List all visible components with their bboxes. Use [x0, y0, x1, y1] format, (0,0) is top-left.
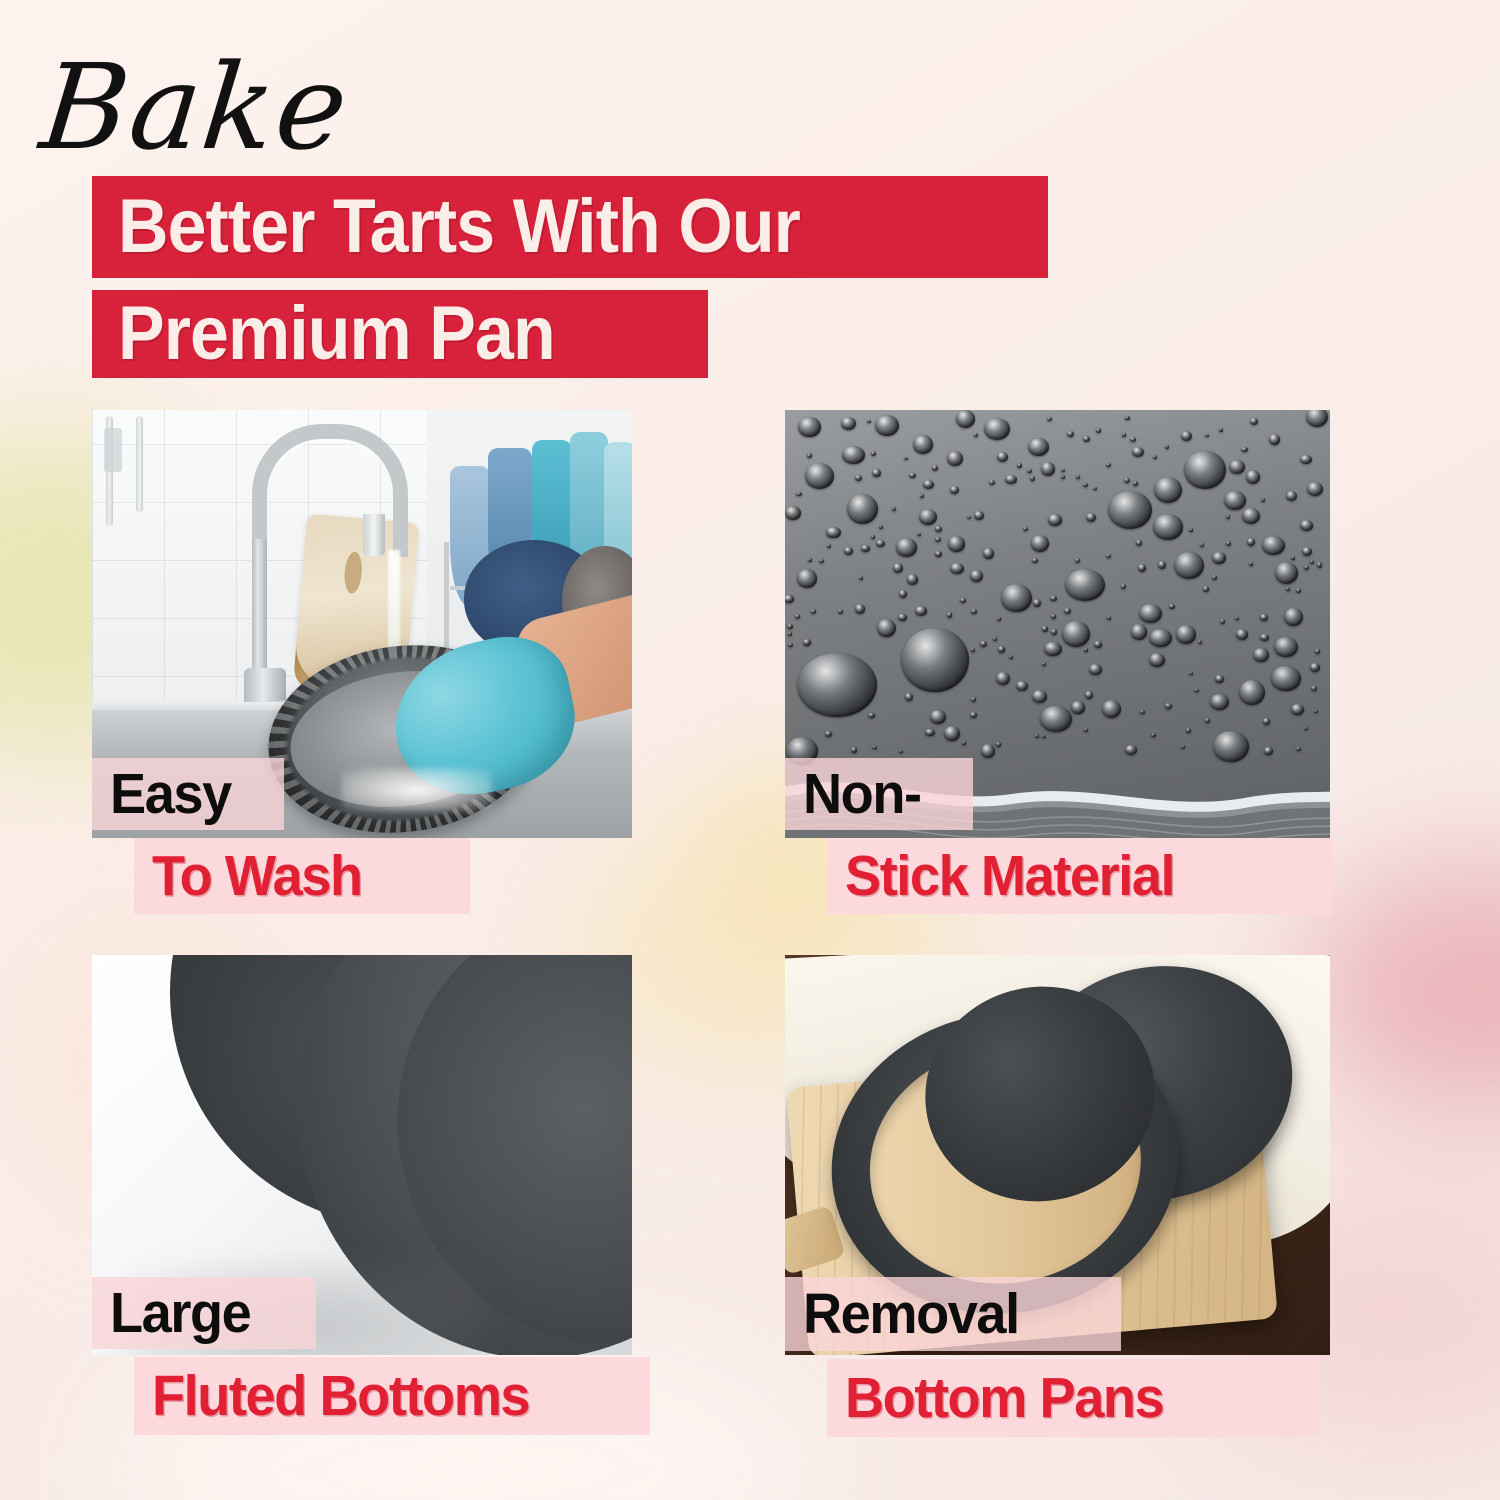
water-droplet	[892, 507, 896, 511]
water-droplet	[805, 463, 835, 489]
water-droplet	[797, 569, 817, 588]
water-droplet	[1241, 447, 1247, 452]
water-droplet	[1001, 584, 1032, 613]
water-droplet	[1249, 562, 1253, 565]
water-droplet	[1314, 710, 1318, 714]
water-droplet	[1229, 460, 1245, 474]
water-droplet	[1106, 554, 1111, 558]
feature-tag-top-large-text: Large	[110, 1285, 250, 1342]
water-droplet	[1186, 728, 1191, 733]
water-droplet	[898, 614, 907, 622]
water-droplet	[867, 420, 871, 424]
water-droplet	[998, 646, 1005, 652]
water-droplet	[1062, 621, 1090, 646]
water-droplet	[808, 558, 812, 562]
water-droplet	[984, 418, 1010, 440]
feature-tag-bottom-fluted-bottoms-text: Fluted Bottoms	[152, 1368, 529, 1425]
water-droplet	[1263, 718, 1271, 725]
water-droplet	[785, 506, 801, 520]
water-droplet	[1165, 445, 1170, 449]
water-droplet	[997, 617, 1001, 620]
water-droplet	[1300, 455, 1312, 464]
water-droplet	[1132, 447, 1144, 457]
water-droplet	[920, 494, 924, 497]
water-droplet	[1051, 614, 1056, 619]
water-droplet	[1274, 637, 1298, 657]
water-droplet	[1262, 536, 1285, 555]
water-droplet	[1235, 617, 1239, 621]
water-droplet	[1108, 491, 1152, 529]
script-headline-word: Bake	[36, 48, 355, 166]
water-droplet	[1284, 608, 1304, 627]
water-droplet	[1140, 710, 1144, 714]
water-droplet	[1236, 629, 1249, 640]
water-droplet	[1028, 438, 1049, 456]
water-droplet	[1226, 541, 1231, 546]
water-droplet	[1085, 691, 1093, 699]
water-droplet	[1286, 491, 1297, 502]
water-droplet	[1042, 735, 1046, 738]
water-droplet	[1047, 417, 1052, 422]
water-droplet	[1275, 562, 1298, 584]
feature-tag-bottom-to-wash: To Wash	[134, 838, 470, 914]
water-droplet	[1242, 508, 1261, 525]
water-droplet	[1271, 666, 1300, 690]
water-droplet	[797, 653, 877, 717]
water-droplet	[1269, 434, 1280, 445]
water-droplet	[872, 746, 876, 750]
water-droplet	[1050, 596, 1057, 602]
feature-card-large-fluted-bottoms: Large Fluted Bottoms	[92, 955, 632, 1355]
water-droplet	[1169, 604, 1174, 609]
water-droplet	[907, 574, 918, 585]
water-droplet	[825, 731, 832, 737]
water-droplet	[1093, 487, 1097, 491]
water-droplet	[1071, 701, 1084, 713]
water-droplet	[1194, 689, 1198, 693]
water-droplet	[1286, 587, 1290, 591]
water-droplet	[798, 417, 820, 438]
water-droplet	[1205, 718, 1210, 723]
water-droplet	[875, 415, 899, 436]
water-droplet	[1094, 641, 1101, 648]
water-droplet	[1083, 436, 1090, 442]
water-droplet	[1300, 520, 1312, 531]
water-droplet	[905, 693, 913, 701]
water-droplet	[795, 614, 800, 619]
headline-banner-line1: Better Tarts With Our	[92, 176, 1048, 278]
water-droplet	[851, 747, 857, 753]
water-droplet	[826, 527, 841, 539]
water-droplet	[962, 741, 966, 745]
feature-tag-bottom-bottom-pans-text: Bottom Pans	[845, 1370, 1163, 1427]
water-droplet	[1246, 470, 1260, 484]
water-droplet	[1027, 469, 1032, 474]
water-droplet	[1035, 734, 1039, 738]
water-droplet	[847, 494, 878, 524]
water-droplet	[1122, 433, 1126, 437]
water-droplet	[876, 540, 885, 547]
water-droplet	[983, 548, 994, 559]
water-droplet	[1023, 527, 1027, 531]
water-droplet	[1031, 535, 1050, 552]
water-droplet	[1048, 514, 1062, 525]
headline-line2-text: Premium Pan	[118, 296, 555, 372]
water-droplet	[935, 537, 941, 543]
feature-tag-top-easy-text: Easy	[110, 766, 231, 823]
water-droplet	[997, 452, 1008, 462]
product-feature-poster: Bake Better Tarts With Our Premium Pan	[0, 0, 1500, 1500]
water-droplet	[787, 624, 793, 629]
water-droplet	[989, 480, 996, 486]
water-droplet	[896, 538, 917, 556]
water-droplet	[841, 417, 857, 431]
feature-tag-bottom-bottom-pans: Bottom Pans	[827, 1359, 1317, 1437]
feature-tag-top-non-text: Non-	[803, 766, 921, 823]
water-droplet	[971, 609, 977, 614]
water-droplet	[919, 509, 937, 525]
water-droplet	[803, 639, 811, 646]
water-droplet	[915, 606, 927, 616]
water-droplet	[1153, 514, 1183, 539]
water-droplet	[947, 451, 963, 466]
water-droplet	[1064, 608, 1071, 614]
water-droplet	[1075, 558, 1081, 563]
feature-tag-bottom-stick-material: Stick Material	[827, 838, 1333, 914]
feature-tag-top-easy: Easy	[92, 758, 284, 830]
water-droplet	[868, 713, 875, 719]
water-droplet	[1189, 672, 1193, 676]
water-droplet	[1106, 463, 1111, 467]
water-droplet	[1203, 586, 1208, 591]
water-droplet	[1154, 477, 1182, 503]
water-droplet	[1151, 733, 1156, 737]
water-droplet	[788, 632, 792, 636]
feature-card-removal-bottom-pans: Removal Bottom Pans	[785, 955, 1330, 1355]
water-droplet	[930, 710, 946, 725]
water-droplet	[967, 516, 971, 520]
water-droplet	[1061, 475, 1065, 479]
water-droplet	[913, 435, 933, 454]
water-droplet	[1032, 690, 1047, 703]
water-droplet	[879, 525, 883, 529]
water-droplet	[855, 604, 865, 614]
water-droplet	[1165, 703, 1172, 709]
water-droplet	[1149, 629, 1172, 647]
water-droplet	[1219, 428, 1223, 432]
water-droplet	[935, 526, 942, 532]
water-droplet	[811, 609, 816, 614]
water-droplet	[970, 712, 977, 718]
water-droplet	[1264, 747, 1273, 755]
water-droplet	[1061, 469, 1065, 472]
water-droplet	[1250, 418, 1259, 425]
water-droplet	[909, 473, 915, 478]
water-droplet	[1260, 614, 1267, 621]
water-droplet	[974, 511, 984, 519]
water-droplet	[1311, 686, 1317, 691]
water-droplet	[1131, 624, 1147, 639]
water-droplet	[872, 469, 880, 477]
headline-line1-text: Better Tarts With Our	[118, 189, 800, 265]
water-droplet	[956, 410, 975, 428]
water-droplet	[960, 598, 966, 603]
feature-tag-top-removal: Removal	[785, 1277, 1121, 1351]
water-droplet	[1107, 616, 1111, 620]
water-droplet	[996, 672, 1010, 685]
water-droplet	[842, 446, 865, 465]
water-droplet	[1121, 584, 1126, 589]
water-droplet	[980, 641, 987, 647]
water-droplet	[1296, 588, 1301, 593]
water-droplet	[970, 570, 983, 582]
water-droplet	[1033, 599, 1041, 607]
water-droplet	[1239, 680, 1265, 705]
headline-banner-line2: Premium Pan	[92, 290, 708, 378]
water-droplet	[1009, 655, 1013, 659]
water-droplet	[1212, 552, 1227, 564]
water-droplet	[1086, 513, 1096, 522]
water-droplet	[1125, 416, 1129, 420]
water-droplet	[1176, 625, 1195, 643]
water-droplet	[1042, 626, 1049, 632]
water-droplet	[1200, 543, 1204, 547]
water-droplet	[971, 697, 976, 702]
water-droplet	[893, 563, 904, 573]
feature-tag-top-non: Non-	[785, 758, 973, 830]
water-droplet	[1133, 481, 1138, 486]
water-droplet	[947, 612, 953, 617]
water-droplet	[871, 535, 875, 538]
water-droplet	[1130, 437, 1136, 442]
water-droplet	[923, 480, 935, 490]
water-droplet	[1030, 476, 1035, 481]
water-droplet	[904, 457, 908, 460]
water-droplet	[1051, 629, 1057, 634]
water-droplet	[1089, 664, 1102, 675]
water-droplet	[1153, 455, 1157, 459]
water-droplet	[925, 729, 934, 737]
water-droplet	[1096, 428, 1102, 433]
water-droplet	[1174, 552, 1204, 579]
water-droplet	[1310, 663, 1320, 672]
water-droplet	[950, 563, 964, 575]
water-droplet	[1042, 662, 1047, 666]
feature-tag-bottom-to-wash-text: To Wash	[152, 848, 362, 905]
water-droplet	[981, 744, 995, 758]
water-droplet	[1158, 561, 1166, 569]
water-droplet	[785, 595, 794, 603]
water-droplet	[1291, 556, 1295, 560]
water-droplet	[1304, 727, 1308, 730]
water-droplet	[1017, 463, 1022, 467]
water-droplet	[1215, 675, 1224, 683]
water-droplet	[948, 536, 964, 551]
water-droplet	[1307, 482, 1323, 496]
water-droplet	[1032, 558, 1038, 563]
water-droplet	[899, 590, 907, 598]
water-droplet	[1213, 731, 1248, 762]
water-droplet	[996, 742, 1002, 747]
water-droplet	[1210, 694, 1229, 710]
water-droplet	[1083, 483, 1088, 487]
water-droplet	[1212, 575, 1217, 580]
water-droplet	[1260, 634, 1269, 641]
water-droplet	[1247, 538, 1255, 545]
water-droplet	[901, 628, 969, 692]
water-droplet	[950, 486, 960, 494]
water-droplet	[932, 465, 938, 471]
water-droplet	[1306, 410, 1328, 427]
water-droplet	[788, 643, 793, 647]
water-droplet	[1317, 562, 1323, 568]
water-droplet	[1205, 434, 1209, 438]
water-droplet	[859, 576, 864, 580]
water-droplet	[819, 559, 824, 563]
water-droplet	[1040, 706, 1072, 731]
water-droplet	[1065, 569, 1105, 601]
water-droplet	[1149, 653, 1165, 667]
water-droplet	[1291, 704, 1303, 715]
water-droplet	[1310, 560, 1314, 564]
water-droplet	[844, 547, 853, 555]
water-droplet	[807, 453, 812, 458]
water-droplet	[1005, 475, 1017, 484]
water-droplet	[1076, 475, 1080, 478]
water-droplet	[827, 544, 831, 548]
water-droplet	[1136, 540, 1143, 546]
feature-tag-bottom-stick-material-text: Stick Material	[845, 848, 1174, 905]
water-droplet	[861, 545, 870, 553]
water-droplet	[1226, 515, 1230, 518]
water-droplet	[1044, 642, 1061, 656]
water-droplet	[917, 533, 921, 536]
feature-tag-top-removal-text: Removal	[803, 1286, 1019, 1343]
water-droplet	[877, 619, 896, 637]
water-droplet	[1041, 462, 1055, 476]
feature-tag-bottom-fluted-bottoms: Fluted Bottoms	[134, 1357, 650, 1435]
water-droplet	[1302, 547, 1312, 556]
water-droplet	[1220, 619, 1225, 624]
water-droplet	[971, 648, 975, 652]
water-droplet	[1084, 728, 1088, 732]
water-droplet	[871, 451, 876, 456]
water-droplet	[1189, 528, 1194, 532]
water-droplet	[1198, 640, 1202, 644]
water-droplet	[1084, 648, 1088, 652]
water-droplet	[935, 551, 942, 557]
water-droplet	[1102, 700, 1121, 718]
water-droplet	[1296, 747, 1301, 751]
water-droplet	[899, 750, 903, 754]
water-droplet	[855, 475, 862, 482]
water-droplet	[1138, 564, 1146, 572]
water-droplet	[838, 609, 843, 614]
water-droplet	[1067, 431, 1074, 437]
water-droplet	[974, 433, 978, 437]
water-droplet	[1304, 565, 1309, 570]
water-droplet	[1181, 431, 1192, 442]
water-droplet	[1184, 451, 1226, 490]
water-droplet	[1139, 604, 1162, 623]
water-droplet	[944, 726, 960, 741]
feature-card-easy-to-wash: Easy To Wash	[92, 410, 632, 838]
water-droplet	[1124, 478, 1130, 483]
water-droplet	[1315, 649, 1321, 654]
water-droplet	[1253, 648, 1269, 662]
water-droplet	[1181, 745, 1186, 749]
water-droplet	[1016, 681, 1028, 691]
water-droplet	[1261, 498, 1265, 501]
water-droplet	[796, 492, 802, 497]
water-droplet	[993, 637, 997, 641]
feature-card-non-stick-material: Non- Stick Material	[785, 410, 1330, 838]
water-droplet	[1224, 491, 1246, 511]
feature-tag-top-large: Large	[92, 1277, 316, 1349]
